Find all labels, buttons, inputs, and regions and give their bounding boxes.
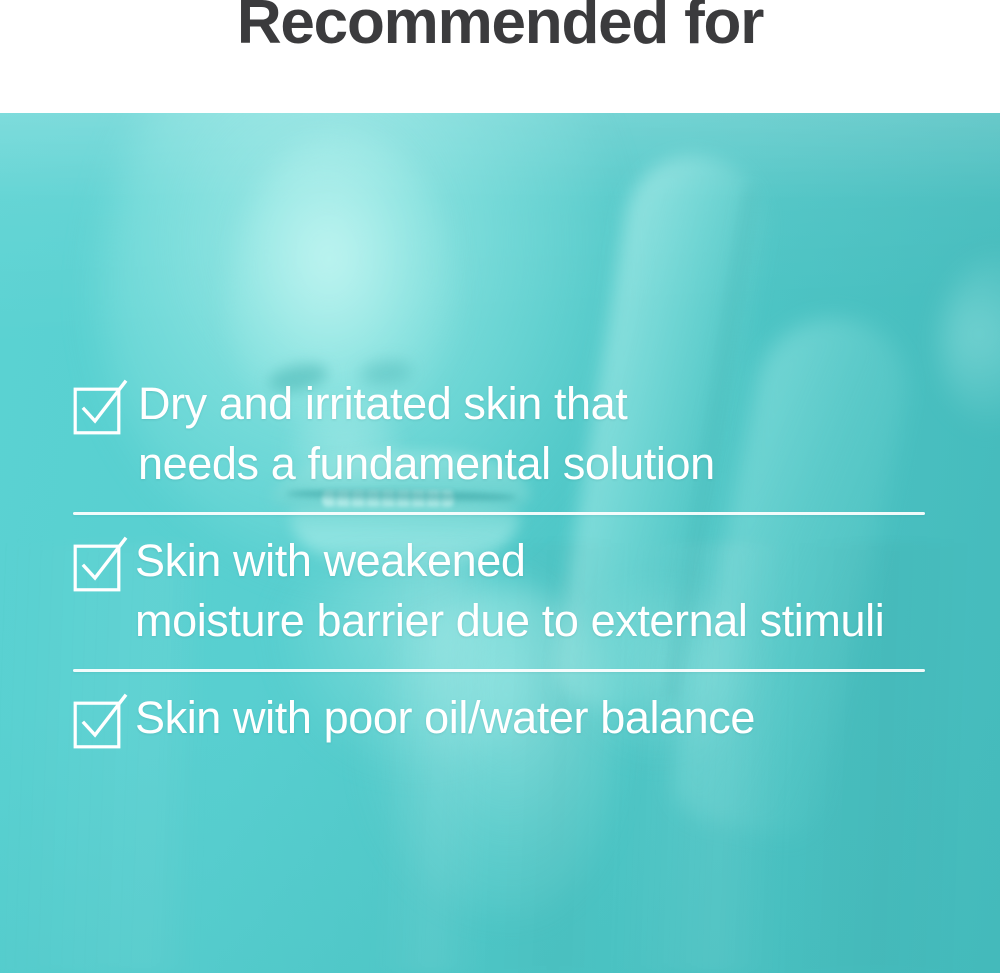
checklist-item-label: Skin with poor oil/water balance [135,688,755,748]
checkbox-checked-icon [73,697,125,749]
photo-top-light [0,113,1000,203]
checkbox-checked-icon [73,540,125,592]
checklist-divider [73,669,925,672]
header-band: Recommended for [0,0,1000,113]
checklist-item: Dry and irritated skin that needs a fund… [73,374,928,494]
checklist-item-label: Dry and irritated skin that needs a fund… [138,374,715,494]
checkbox-checked-icon [73,383,125,435]
checklist-divider [73,512,925,515]
photo-far-fingertip [940,253,1000,433]
checklist-item-label: Skin with weakened moisture barrier due … [135,531,884,651]
recommendation-checklist: Dry and irritated skin that needs a fund… [73,374,928,749]
page-title: Recommended for [0,0,1000,58]
recommended-for-panel: Recommended for [0,0,1000,973]
photo-bottom-shade [0,713,1000,973]
checklist-item: Skin with poor oil/water balance [73,688,928,749]
checklist-item: Skin with weakened moisture barrier due … [73,531,928,651]
